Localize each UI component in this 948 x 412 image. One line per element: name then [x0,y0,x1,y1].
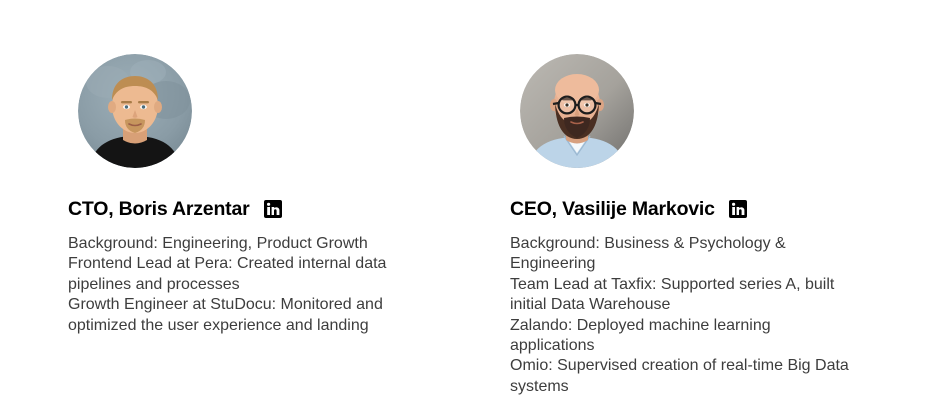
bio-line: Omio: Supervised creation of real-time B… [510,356,855,397]
profile-name: CTO, Boris Arzentar [68,198,250,221]
profile-bio: Background: Business & Psychology & Engi… [510,234,855,397]
bio-line: Team Lead at Taxfix: Supported series A,… [510,275,855,316]
profile-heading: CTO, Boris Arzentar [68,196,468,222]
bio-line: Zalando: Deployed machine learning appli… [510,316,855,357]
avatar-vasilije-markovic [520,54,634,168]
bio-line: Growth Engineer at StuDocu: Monitored an… [68,295,413,336]
linkedin-icon[interactable] [729,200,747,218]
linkedin-icon[interactable] [264,200,282,218]
profile-card-cto: CTO, Boris Arzentar Background: Engineer… [68,0,468,336]
profile-heading: CEO, Vasilije Markovic [510,196,910,222]
profile-name: CEO, Vasilije Markovic [510,198,715,221]
profile-card-ceo: CEO, Vasilije Markovic Background: Busin… [510,0,910,397]
bio-line: Background: Business & Psychology & Engi… [510,234,855,275]
avatar-boris-arzentar [78,54,192,168]
bio-line: Frontend Lead at Pera: Created internal … [68,254,413,295]
profile-bio: Background: Engineering, Product Growth … [68,234,413,336]
team-profiles-section: CTO, Boris Arzentar Background: Engineer… [0,0,948,412]
bio-line: Background: Engineering, Product Growth [68,234,413,254]
